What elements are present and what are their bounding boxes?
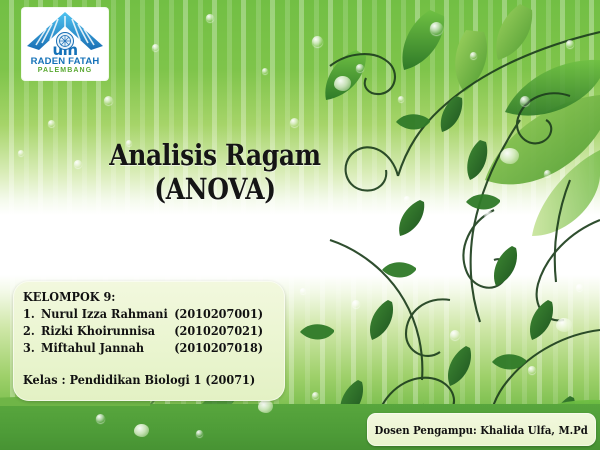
member-nim: (2010207018) xyxy=(174,339,263,356)
presentation-slide: uin RADEN FATAH PALEMBANG Analisis Ragam… xyxy=(0,0,600,450)
logo-city: PALEMBANG xyxy=(38,67,93,75)
title-line-2: (ANOVA) xyxy=(30,172,400,206)
logo-university-name: RADEN FATAH xyxy=(31,57,100,67)
member-list-item: 1. Nurul Izza Rahmani (2010207001) xyxy=(23,305,259,322)
member-number: 3. xyxy=(23,339,41,356)
lecturer-box: Dosen Pengampu: Khalida Ulfa, M.Pd xyxy=(367,413,596,446)
class-line: Kelas : Pendidikan Biologi 1 (20071) xyxy=(23,372,259,388)
member-number: 2. xyxy=(23,322,41,339)
group-members-box: KELOMPOK 9: 1. Nurul Izza Rahmani (20102… xyxy=(13,281,285,401)
title-line-1: Analisis Ragam xyxy=(30,138,400,172)
member-number: 1. xyxy=(23,305,41,322)
member-name: Miftahul Jannah xyxy=(41,339,174,356)
member-nim: (2010207001) xyxy=(174,305,263,322)
uin-chevron-logo-icon xyxy=(25,10,105,52)
lecturer-text: Dosen Pengampu: Khalida Ulfa, M.Pd xyxy=(375,423,588,437)
member-name: Nurul Izza Rahmani xyxy=(41,305,174,322)
member-name: Rizki Khoirunnisa xyxy=(41,322,174,339)
university-logo: uin RADEN FATAH PALEMBANG xyxy=(22,8,108,80)
member-list-item: 3. Miftahul Jannah (2010207018) xyxy=(23,339,259,356)
group-heading: KELOMPOK 9: xyxy=(23,289,259,305)
slide-title: Analisis Ragam (ANOVA) xyxy=(0,138,430,206)
foliage-artwork-right xyxy=(270,0,600,450)
member-list-item: 2. Rizki Khoirunnisa (2010207021) xyxy=(23,322,259,339)
member-nim: (2010207021) xyxy=(174,322,263,339)
